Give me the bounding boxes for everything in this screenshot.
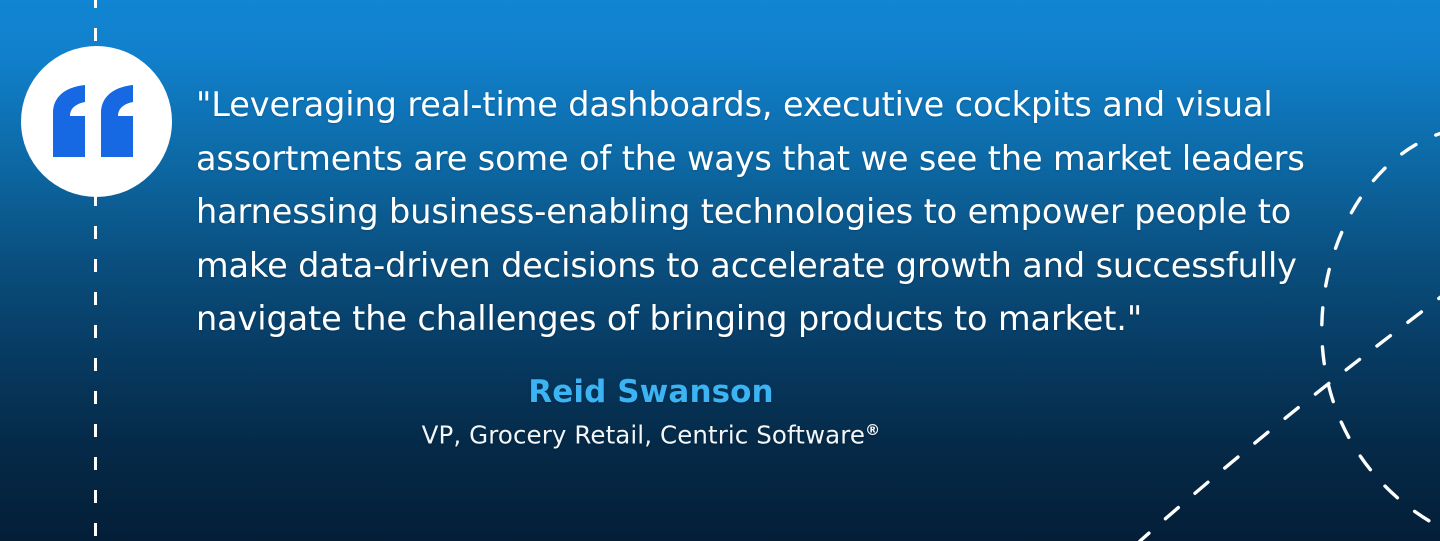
attribution-block: Reid Swanson VP, Grocery Retail, Centric…: [196, 371, 1106, 452]
quotation-mark-icon: [51, 85, 143, 159]
quote-badge: [21, 46, 172, 197]
attribution-name: Reid Swanson: [196, 371, 1106, 413]
quote-text: "Leveraging real-time dashboards, execut…: [196, 78, 1306, 346]
dashed-arc-upper-right: [1322, 130, 1440, 533]
attribution-role: VP, Grocery Retail, Centric Software®: [196, 413, 1106, 452]
attribution-role-text: VP, Grocery Retail, Centric Software: [422, 420, 865, 449]
registered-trademark-icon: ®: [865, 421, 880, 439]
testimonial-banner: "Leveraging real-time dashboards, execut…: [0, 0, 1440, 541]
